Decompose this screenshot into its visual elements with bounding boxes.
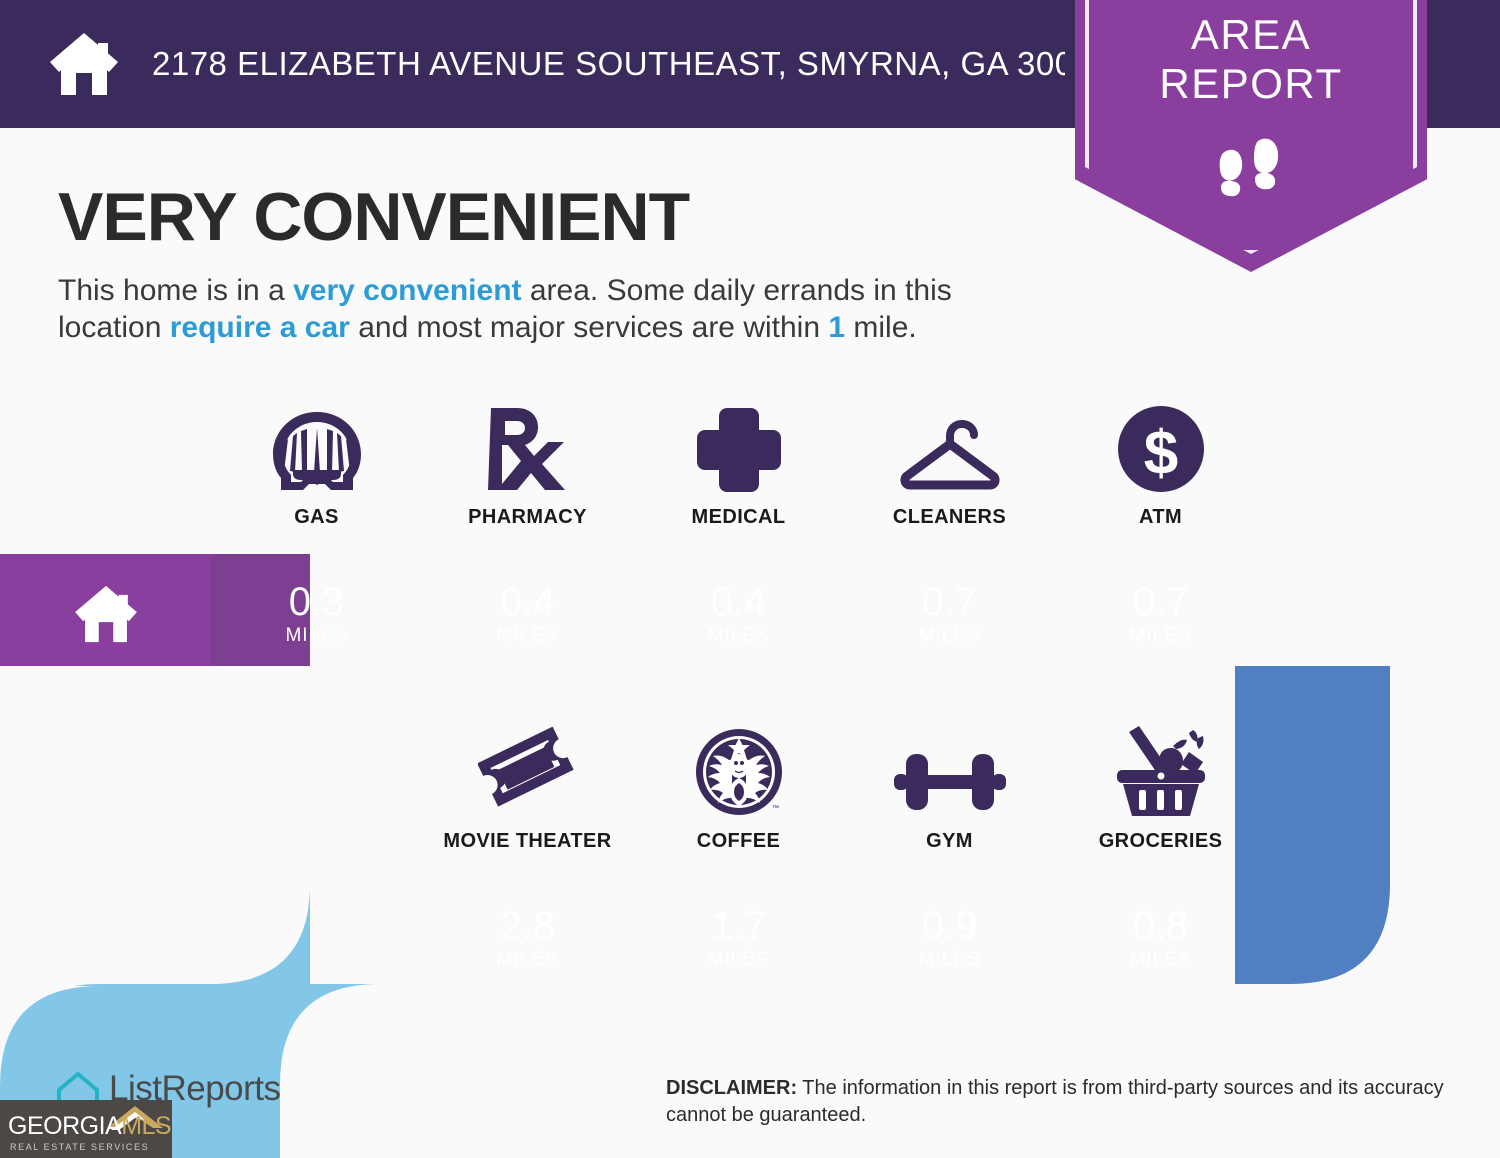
header-bar: 2178 ELIZABETH AVENUE SOUTHEAST, SMYRNA,…: [0, 0, 1065, 128]
distance-gas: 0.3 MILES: [211, 558, 422, 670]
icon-cell-spacer-2: [1266, 398, 1477, 529]
disclaimer: DISCLAIMER: The information in this repo…: [666, 1075, 1456, 1129]
icon-cell-spacer-4: [211, 722, 422, 853]
distance-groceries: 0.8 MILES: [1055, 882, 1266, 994]
icon-cell-spacer-5: [1266, 722, 1477, 853]
distance-medical: 0.4 MILES: [633, 558, 844, 670]
amenity-label: PHARMACY: [468, 506, 587, 529]
distance-values-row-1: 0.3 MILES 0.4 MILES 0.4 MILES 0.7 MILES …: [0, 558, 1500, 670]
distance-movie-theater: 2.8 MILES: [422, 882, 633, 994]
value-spacer-2: [211, 882, 422, 994]
clothes-hanger-icon: [895, 398, 1005, 494]
icon-cell-spacer-3: [0, 722, 211, 853]
distance-unit: MILES: [496, 949, 558, 971]
amenity-label: GAS: [294, 506, 339, 529]
mls-wordmark: GEORGIAMLS: [8, 1112, 171, 1141]
distance-unit: MILES: [1129, 625, 1191, 647]
property-address: 2178 ELIZABETH AVENUE SOUTHEAST, SMYRNA,…: [152, 45, 1111, 83]
summary-text: This home is in a very convenient area. …: [58, 272, 1058, 346]
distance-values-row-2: 2.8 MILES 1.7 MILES 0.9 MILES 0.8 MILES: [0, 882, 1500, 994]
amenity-label: GROCERIES: [1099, 830, 1223, 853]
grocery-basket-icon: [1111, 722, 1211, 818]
icon-cell-spacer: [0, 398, 211, 529]
distance-unit: MILES: [285, 625, 347, 647]
amenity-cleaners: CLEANERS: [844, 398, 1055, 529]
dumbbell-gym-icon: [894, 722, 1006, 818]
amenity-icons-row-1: GAS PHARMACY MEDICAL: [0, 398, 1500, 529]
amenity-atm: $ ATM: [1055, 398, 1266, 529]
dollar-atm-icon: $: [1116, 398, 1206, 494]
footprints-icon: [1213, 137, 1291, 207]
distance-unit: MILES: [707, 949, 769, 971]
amenity-label: MEDICAL: [692, 506, 786, 529]
summary-part-6: mile.: [845, 311, 917, 344]
home-icon: [48, 31, 120, 97]
amenity-label: COFFEE: [697, 830, 781, 853]
svg-text:$: $: [1143, 419, 1177, 488]
distance-pharmacy: 0.4 MILES: [422, 558, 633, 670]
amenity-medical: MEDICAL: [633, 398, 844, 529]
summary-part-1: very convenient: [293, 274, 521, 307]
amenity-label: MOVIE THEATER: [443, 830, 611, 853]
summary-part-0: This home is in a: [58, 274, 293, 307]
distance-value: 0.4: [500, 581, 556, 623]
distance-unit: MILES: [707, 625, 769, 647]
rx-pharmacy-icon: [485, 398, 571, 494]
value-spacer-1: [0, 882, 211, 994]
distance-unit: MILES: [918, 625, 980, 647]
summary-part-3: require a car: [170, 311, 350, 344]
amenity-pharmacy: PHARMACY: [422, 398, 633, 529]
badge-line-2: REPORT: [1075, 59, 1427, 108]
distance-atm: 0.7 MILES: [1055, 558, 1266, 670]
starbucks-coffee-icon: ™: [693, 722, 785, 818]
amenity-coffee: ™ COFFEE: [633, 722, 844, 853]
distance-value: 0.3: [289, 581, 345, 623]
distance-value: 0.9: [922, 905, 978, 947]
shell-gas-icon: [269, 398, 365, 494]
distance-value: 0.4: [711, 581, 767, 623]
amenity-groceries: GROCERIES: [1055, 722, 1266, 853]
area-report-badge: AREA REPORT: [1075, 0, 1427, 272]
distance-cleaners: 0.7 MILES: [844, 558, 1055, 670]
amenity-gym: GYM: [844, 722, 1055, 853]
movie-ticket-icon: [478, 722, 578, 818]
amenity-gas: GAS: [211, 398, 422, 529]
distance-unit: MILES: [918, 949, 980, 971]
amenity-label: GYM: [926, 830, 973, 853]
svg-text:™: ™: [772, 805, 779, 812]
area-report-page: 2178 ELIZABETH AVENUE SOUTHEAST, SMYRNA,…: [0, 0, 1500, 1158]
distance-unit: MILES: [496, 625, 558, 647]
disclaimer-label: DISCLAIMER:: [666, 1077, 797, 1099]
distance-unit: MILES: [1129, 949, 1191, 971]
page-title: VERY CONVENIENT: [58, 178, 689, 256]
distance-value: 0.7: [1133, 581, 1189, 623]
badge-line-1: AREA: [1075, 10, 1427, 59]
mls-suffix: MLS: [121, 1112, 171, 1140]
mls-georgia: GEORGIA: [8, 1112, 121, 1140]
amenity-movie-theater: MOVIE THEATER: [422, 722, 633, 853]
home-marker-cell: [0, 558, 211, 670]
distance-value: 2.8: [500, 905, 556, 947]
amenity-icons-row-2: MOVIE THEATER: [0, 722, 1500, 853]
distance-value: 0.7: [922, 581, 978, 623]
distance-gym: 0.9 MILES: [844, 882, 1055, 994]
georgia-mls-logo: GEORGIAMLS REAL ESTATE SERVICES: [0, 1100, 172, 1158]
distance-value: 0.8: [1133, 905, 1189, 947]
summary-part-4: and most major services are within: [350, 311, 829, 344]
distance-value: 1.7: [711, 905, 767, 947]
medical-cross-icon: [695, 398, 783, 494]
home-icon: [73, 584, 139, 644]
distance-coffee: 1.7 MILES: [633, 882, 844, 994]
mls-tagline: REAL ESTATE SERVICES: [10, 1142, 149, 1152]
badge-title: AREA REPORT: [1075, 10, 1427, 108]
amenity-label: CLEANERS: [893, 506, 1006, 529]
summary-part-5: 1: [828, 311, 845, 344]
amenity-label: ATM: [1139, 506, 1182, 529]
